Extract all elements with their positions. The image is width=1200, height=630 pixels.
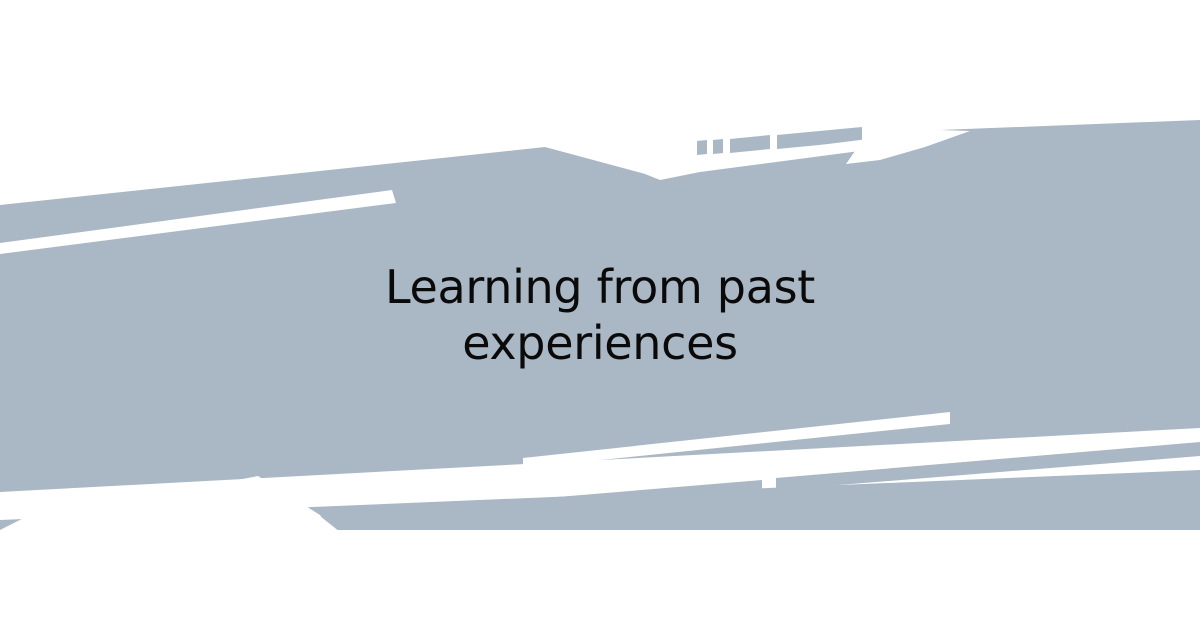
top-dash-3 [730,135,770,153]
banner-canvas: Learning from past experiences [0,0,1200,630]
decorative-background-art [0,0,1200,630]
top-dash-1 [697,140,707,155]
top-dash-2 [713,139,723,154]
